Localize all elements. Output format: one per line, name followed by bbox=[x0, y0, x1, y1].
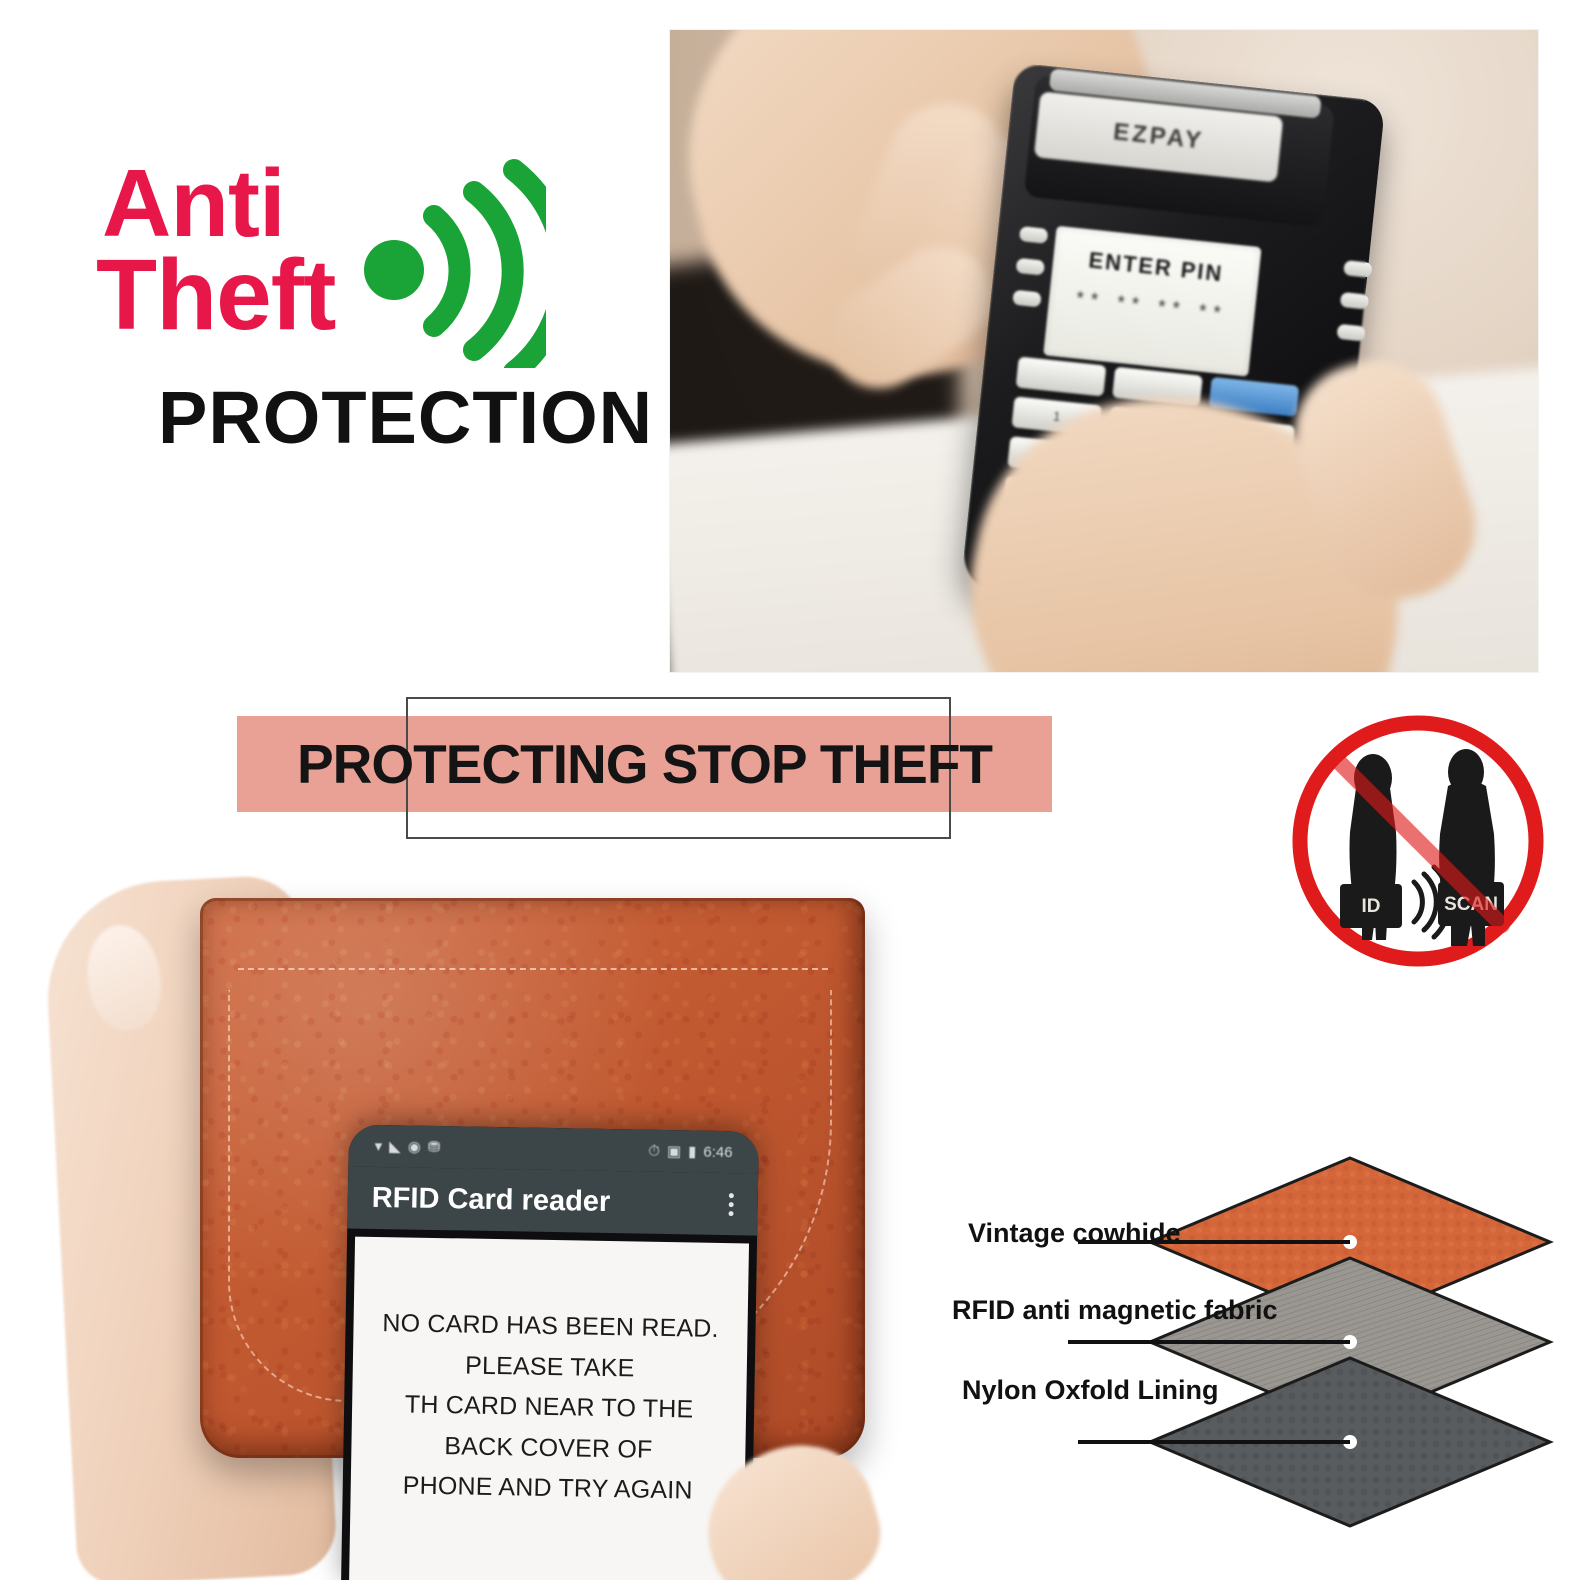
kebab-menu-icon[interactable] bbox=[729, 1193, 734, 1216]
softkey[interactable] bbox=[1340, 292, 1369, 310]
phone-status-bar: ▾ ◣ ◉ ⛃ ⏱ ▣ ▮ 6:46 bbox=[348, 1124, 759, 1173]
softkey[interactable] bbox=[1019, 226, 1048, 244]
message-line: BACK COVER OF bbox=[351, 1424, 746, 1471]
briefcase-left-label: ID bbox=[1362, 896, 1381, 917]
status-bar-right-icons: ⏱ ▣ ▮ 6:46 bbox=[648, 1142, 733, 1161]
softkey[interactable] bbox=[1016, 258, 1045, 276]
silent-icon: ◣ bbox=[389, 1137, 401, 1155]
lcd-prompt-text: ENTER PIN bbox=[1052, 244, 1260, 291]
pos-terminal-photo: EZPAY ENTER PIN ** ** ** ** bbox=[670, 30, 1538, 672]
sim-icon: ▣ bbox=[667, 1142, 681, 1160]
layer-label-cowhide: Vintage cowhide bbox=[968, 1218, 1181, 1249]
message-line: TH CARD NEAR TO THE bbox=[352, 1384, 747, 1431]
material-layers-diagram bbox=[950, 1150, 1570, 1550]
notification-icon: ◉ bbox=[408, 1137, 421, 1155]
anti-theft-headline: Anti Theft PROTECTION bbox=[88, 150, 648, 470]
terminal-lcd-screen: ENTER PIN ** ** ** ** bbox=[1043, 226, 1261, 377]
softkey[interactable] bbox=[1012, 290, 1041, 308]
product-marketing-image: Anti Theft PROTECTION EZPAY bbox=[0, 0, 1580, 1580]
rfid-signal-icon bbox=[356, 158, 546, 368]
no-rfid-skimming-icon: ID SCAN bbox=[1278, 706, 1558, 976]
headline-line-protection: PROTECTION bbox=[158, 375, 653, 460]
message-line: PLEASE TAKE bbox=[353, 1343, 748, 1390]
softkey[interactable] bbox=[1343, 260, 1372, 278]
headline-line-theft: Theft bbox=[96, 248, 335, 343]
layer-label-nylon-lining: Nylon Oxfold Lining bbox=[962, 1375, 1218, 1406]
headline-line-anti: Anti bbox=[102, 158, 285, 249]
banner-title: PROTECTING STOP THEFT bbox=[237, 716, 1052, 812]
app-bar: RFID Card reader bbox=[347, 1166, 758, 1235]
wallet-stitching-top bbox=[238, 968, 828, 970]
usb-icon: ⛃ bbox=[428, 1138, 441, 1156]
status-time: 6:46 bbox=[703, 1143, 732, 1161]
signal-icon: ▾ bbox=[375, 1137, 383, 1155]
status-bar-left-icons: ▾ ◣ ◉ ⛃ bbox=[375, 1137, 441, 1156]
alarm-icon: ⏱ bbox=[648, 1142, 660, 1159]
lcd-masked-pin: ** ** ** ** bbox=[1048, 285, 1255, 328]
softkey[interactable] bbox=[1336, 324, 1365, 342]
message-line: NO CARD HAS BEEN READ. bbox=[353, 1303, 748, 1350]
battery-icon: ▮ bbox=[688, 1142, 697, 1160]
app-message-area: NO CARD HAS BEEN READ. PLEASE TAKE TH CA… bbox=[349, 1237, 749, 1580]
message-line: PHONE AND TRY AGAIN bbox=[350, 1465, 745, 1512]
layer-label-rfid-fabric: RFID anti magnetic fabric bbox=[952, 1295, 1278, 1326]
smartphone: ▾ ◣ ◉ ⛃ ⏱ ▣ ▮ 6:46 RFID Card reader NO C… bbox=[341, 1124, 759, 1580]
app-title: RFID Card reader bbox=[371, 1181, 610, 1218]
